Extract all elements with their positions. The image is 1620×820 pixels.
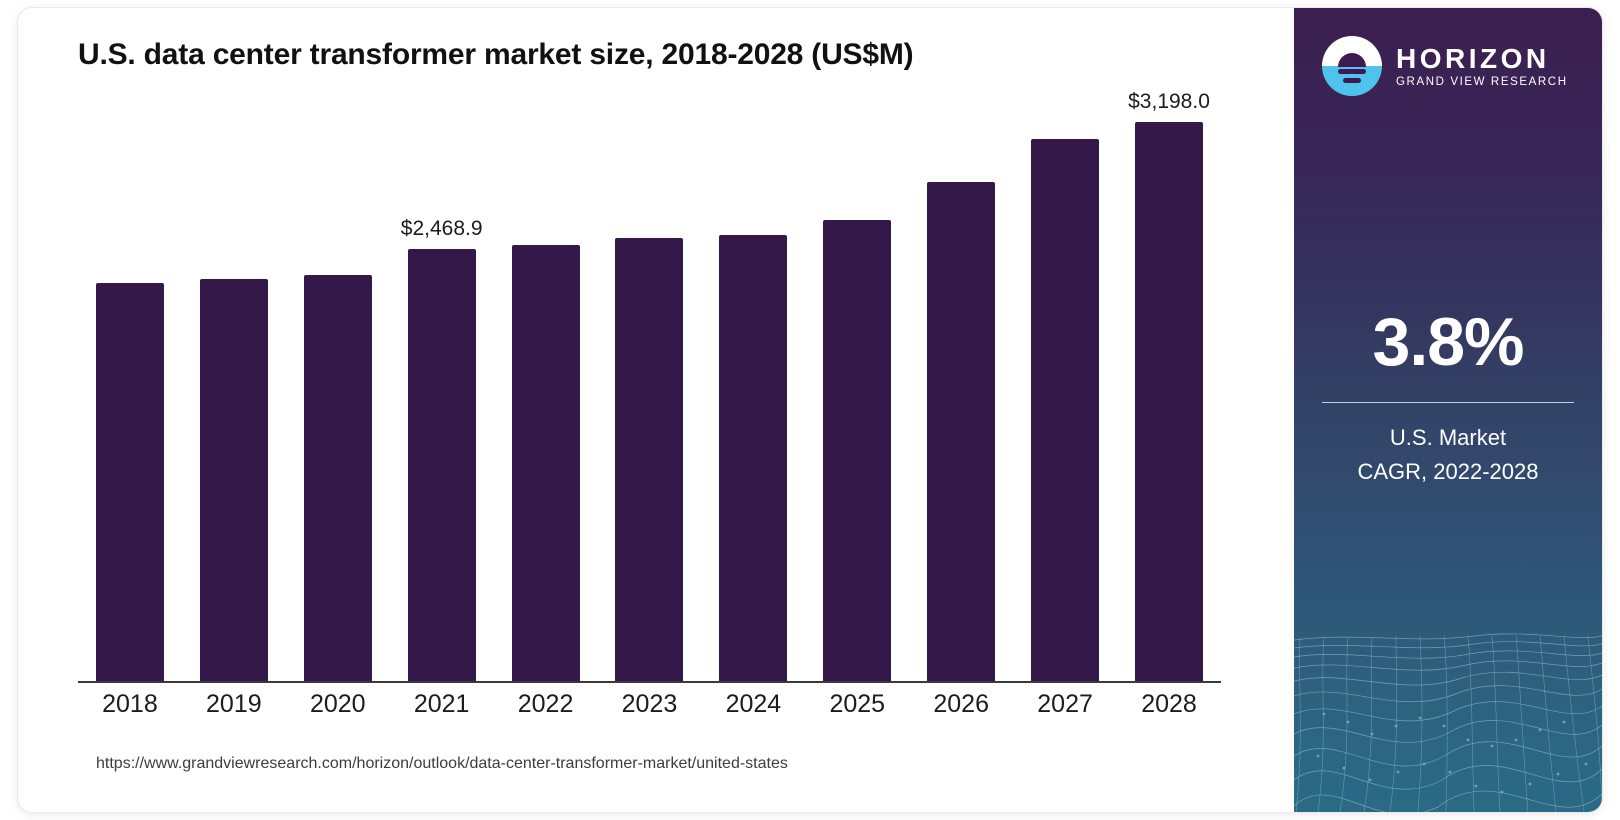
- sun-bar-bottom: [1343, 78, 1361, 83]
- cagr-callout: 3.8% U.S. Market CAGR, 2022-2028: [1294, 308, 1602, 489]
- bar-2028[interactable]: [1135, 122, 1203, 681]
- bar-slot-2028: $3,198.0: [1117, 103, 1221, 681]
- bar-slot-2025: [805, 103, 909, 681]
- bar-series: $2,468.9: [78, 103, 1221, 681]
- x-tick-2027: 2027: [1013, 690, 1117, 719]
- bar-2022[interactable]: [512, 245, 580, 681]
- brand-wordmark: HORIZON GRAND VIEW RESEARCH: [1396, 44, 1568, 88]
- x-tick-2021: 2021: [390, 690, 494, 719]
- bar-2024[interactable]: [719, 235, 787, 681]
- bar-value-label-2028: $3,198.0: [1128, 90, 1210, 114]
- bar-2020[interactable]: [304, 275, 372, 681]
- bar-slot-2021: $2,468.9: [390, 103, 494, 681]
- brand-logo: HORIZON GRAND VIEW RESEARCH: [1322, 36, 1568, 96]
- screenshot-root: U.S. data center transformer market size…: [0, 0, 1620, 820]
- x-tick-2024: 2024: [701, 690, 805, 719]
- chart-pane: U.S. data center transformer market size…: [18, 8, 1294, 812]
- infographic-card: U.S. data center transformer market size…: [18, 8, 1602, 812]
- x-tick-2018: 2018: [78, 690, 182, 719]
- brand-name: HORIZON: [1396, 44, 1568, 73]
- brand-sidebar: HORIZON GRAND VIEW RESEARCH 3.8% U.S. Ma…: [1294, 8, 1602, 812]
- bar-slot-2018: [78, 103, 182, 681]
- bar-slot-2019: [182, 103, 286, 681]
- chart-title: U.S. data center transformer market size…: [78, 38, 913, 72]
- cagr-market-label: U.S. Market: [1294, 421, 1602, 455]
- cagr-period-label: CAGR, 2022-2028: [1294, 455, 1602, 489]
- bar-2023[interactable]: [615, 238, 683, 681]
- bar-slot-2022: [494, 103, 598, 681]
- bar-2021[interactable]: [408, 249, 476, 681]
- bar-chart-plot: $2,468.9: [78, 103, 1228, 683]
- bar-value-label-2021: $2,468.9: [401, 217, 483, 241]
- wireframe-mesh-graphic: [1294, 622, 1602, 812]
- x-tick-2020: 2020: [286, 690, 390, 719]
- bar-2025[interactable]: [823, 220, 891, 681]
- bar-2018[interactable]: [96, 283, 164, 681]
- brand-tagline: GRAND VIEW RESEARCH: [1396, 76, 1568, 88]
- x-tick-2019: 2019: [182, 690, 286, 719]
- cagr-divider: [1322, 402, 1574, 403]
- bar-slot-2026: [909, 103, 1013, 681]
- bar-2026[interactable]: [927, 182, 995, 681]
- x-axis-line: [78, 681, 1221, 683]
- x-tick-2028: 2028: [1117, 690, 1221, 719]
- source-url-link[interactable]: https://www.grandviewresearch.com/horizo…: [96, 755, 788, 773]
- x-tick-2025: 2025: [805, 690, 909, 719]
- bar-slot-2020: [286, 103, 390, 681]
- bar-slot-2023: [598, 103, 702, 681]
- bar-2019[interactable]: [200, 279, 268, 681]
- x-tick-2026: 2026: [909, 690, 1013, 719]
- bar-2027[interactable]: [1031, 139, 1099, 681]
- bar-slot-2024: [701, 103, 805, 681]
- x-tick-2023: 2023: [598, 690, 702, 719]
- x-axis-tick-labels: 2018 2019 2020 2021 2022 2023 2024 2025 …: [78, 690, 1221, 719]
- cagr-value: 3.8%: [1294, 308, 1602, 376]
- sun-dome-shape: [1338, 53, 1366, 67]
- sun-bar-top: [1338, 69, 1366, 74]
- horizon-sunrise-icon: [1322, 36, 1382, 96]
- x-tick-2022: 2022: [494, 690, 598, 719]
- bar-slot-2027: [1013, 103, 1117, 681]
